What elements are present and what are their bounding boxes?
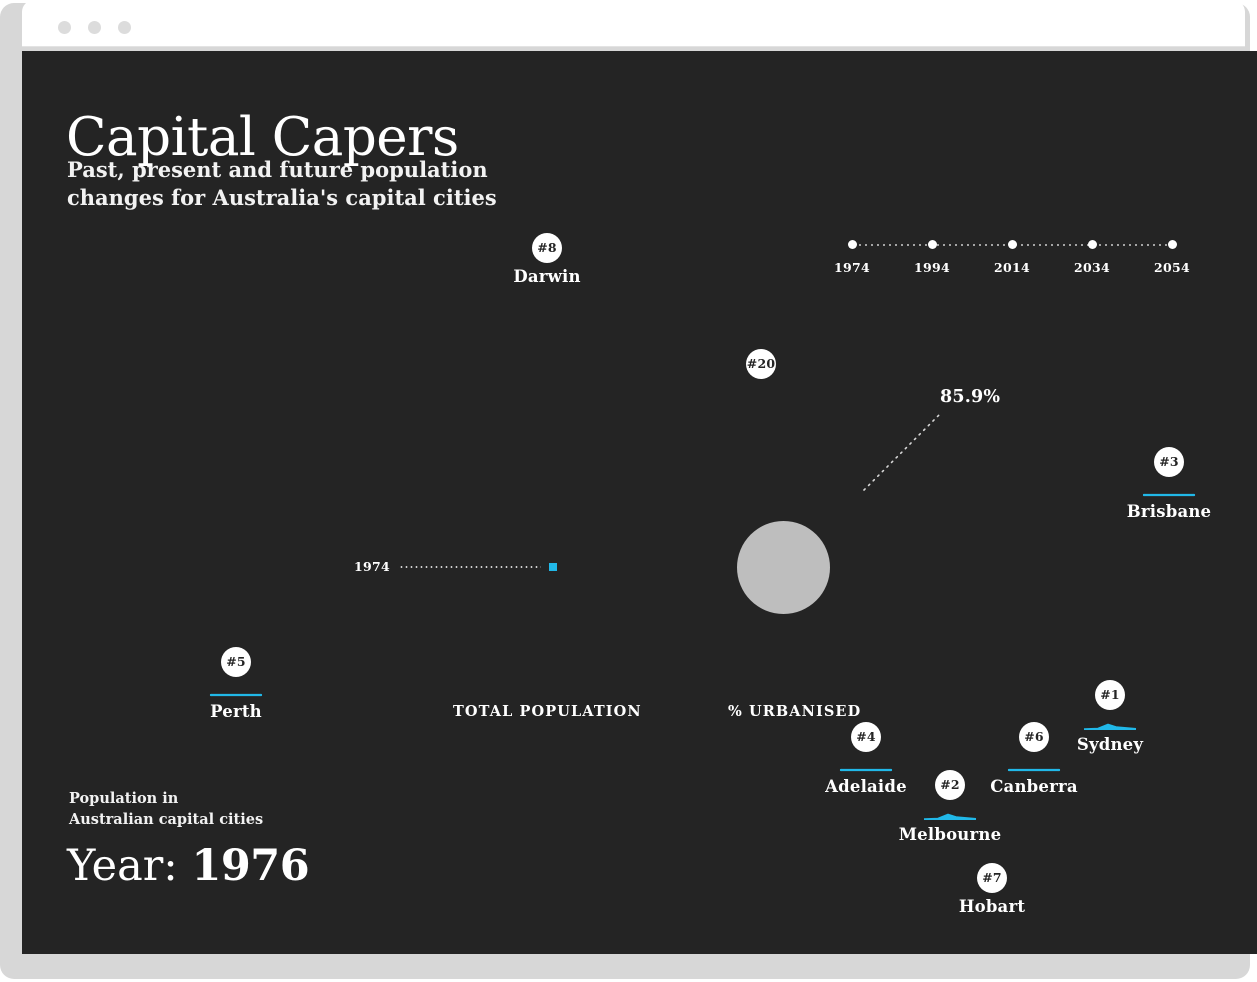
city-name-label: Melbourne — [860, 825, 1040, 844]
city-name-label: Darwin — [457, 267, 637, 286]
timeline-stop-label: 1974 — [824, 260, 880, 275]
year-readout-value: 1976 — [191, 841, 309, 891]
city-rank-badge[interactable]: #6 — [1019, 722, 1049, 752]
city-rank-badge[interactable]: #7 — [977, 863, 1007, 893]
city-rank-badge[interactable]: #2 — [935, 770, 965, 800]
city-rank-badge[interactable]: #20 — [746, 349, 776, 379]
axis-caption-total-population: TOTAL POPULATION — [453, 703, 642, 720]
city-rank-badge[interactable]: #8 — [532, 233, 562, 263]
total-population-bubble[interactable] — [737, 521, 830, 614]
urbanised-leader-line — [862, 412, 942, 492]
footer-caption-line-2: Australian capital cities — [69, 809, 263, 830]
timeline-stop-label: 2014 — [984, 260, 1040, 275]
population-axis-annotation: 1974 — [354, 559, 557, 574]
urbanised-value-label: 85.9% — [940, 387, 1000, 407]
timeline-stop-label: 1994 — [904, 260, 960, 275]
city-sparkline — [146, 684, 326, 698]
city-marker[interactable]: #20 — [671, 349, 851, 379]
city-rank-badge[interactable]: #5 — [221, 647, 251, 677]
timeline-stop-1994[interactable]: 1994 — [904, 236, 960, 275]
close-icon[interactable] — [58, 21, 71, 34]
city-marker-hobart[interactable]: #7Hobart — [902, 863, 1082, 916]
city-name-label: Hobart — [902, 897, 1082, 916]
minimize-icon[interactable] — [88, 21, 101, 34]
footer-caption: Population in Australian capital cities — [69, 788, 263, 830]
maximize-icon[interactable] — [118, 21, 131, 34]
timeline-dot-icon[interactable] — [1168, 240, 1177, 249]
city-sparkline — [1079, 484, 1257, 498]
timeline-stop-1974[interactable]: 1974 — [824, 236, 880, 275]
city-marker-perth[interactable]: #5Perth — [146, 647, 326, 721]
axis-marker-square — [549, 563, 557, 571]
city-marker-darwin[interactable]: #8Darwin — [457, 233, 637, 286]
timeline-dot-icon[interactable] — [848, 240, 857, 249]
city-rank-badge[interactable]: #4 — [851, 722, 881, 752]
timeline-stop-2054[interactable]: 2054 — [1144, 236, 1200, 275]
timeline-dot-icon[interactable] — [1088, 240, 1097, 249]
city-marker-brisbane[interactable]: #3Brisbane — [1079, 447, 1257, 521]
browser-window: Capital Capers Past, present and future … — [0, 0, 1257, 982]
axis-caption-urbanised: % URBANISED — [728, 703, 861, 720]
population-axis-annotation-label: 1974 — [354, 559, 390, 574]
timeline-scrubber[interactable]: 19741994201420342054 — [822, 236, 1182, 286]
city-name-label: Perth — [146, 702, 326, 721]
browser-chrome — [22, 0, 1245, 46]
timeline-dot-icon[interactable] — [928, 240, 937, 249]
city-marker-melbourne[interactable]: #2Melbourne — [860, 770, 1040, 844]
visualization-canvas: Capital Capers Past, present and future … — [22, 51, 1257, 954]
timeline-dot-icon[interactable] — [1008, 240, 1017, 249]
dotted-leader-line — [399, 566, 541, 568]
page-subtitle: Past, present and future population chan… — [67, 156, 497, 213]
footer-caption-line-1: Population in — [69, 788, 263, 809]
year-readout-label: Year: — [67, 841, 178, 891]
timeline-stop-label: 2054 — [1144, 260, 1200, 275]
city-rank-badge[interactable]: #3 — [1154, 447, 1184, 477]
year-readout: Year: 1976 — [67, 841, 309, 891]
city-name-label: Brisbane — [1079, 502, 1257, 521]
traffic-light-buttons[interactable] — [58, 21, 131, 34]
timeline-stop-2014[interactable]: 2014 — [984, 236, 1040, 275]
timeline-stop-label: 2034 — [1064, 260, 1120, 275]
timeline-stop-2034[interactable]: 2034 — [1064, 236, 1120, 275]
city-rank-badge[interactable]: #1 — [1095, 680, 1125, 710]
city-sparkline — [860, 807, 1040, 821]
